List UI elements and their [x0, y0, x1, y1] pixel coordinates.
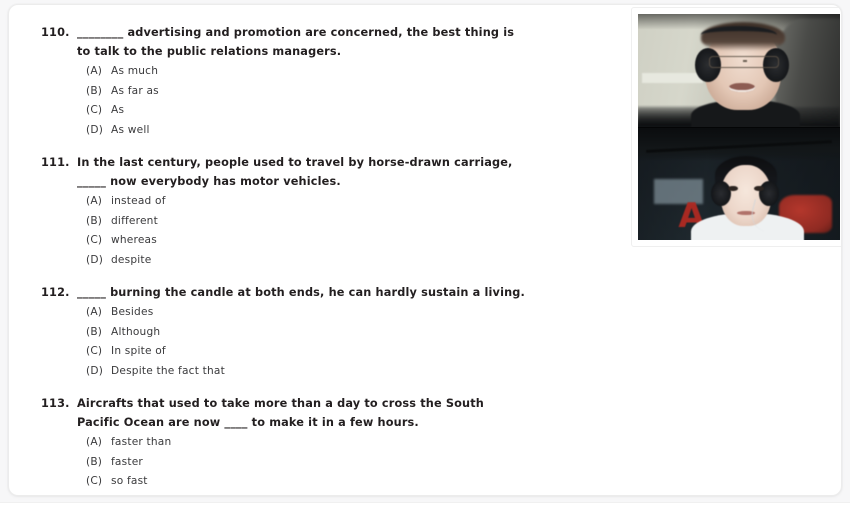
headphone-band-icon: [701, 26, 778, 44]
question-stem: _____ burning the candle at both ends, h…: [77, 283, 601, 302]
option-key: (A): [86, 433, 111, 453]
webcam-panel[interactable]: A: [631, 7, 842, 247]
eyes-shape: [727, 186, 765, 192]
option-key: (B): [86, 453, 111, 473]
question-block: 112. _____ burning the candle at both en…: [41, 283, 601, 381]
question-stem-line: to talk to the public relations managers…: [77, 42, 601, 61]
option-text: Besides: [111, 303, 601, 323]
option-key: (C): [86, 472, 111, 492]
option-text: fast enough: [111, 492, 601, 497]
option-text: despite: [111, 251, 601, 271]
option-text: so fast: [111, 472, 601, 492]
question-stem: Aircrafts that used to take more than a …: [77, 394, 601, 432]
question-number: 112.: [41, 283, 77, 302]
student-webcam-feed[interactable]: A: [638, 127, 840, 240]
option-row[interactable]: (D) Despite the fact that: [86, 362, 601, 382]
option-text: As much: [111, 62, 601, 82]
option-key: (C): [86, 231, 111, 251]
question-stem-line: Aircrafts that used to take more than a …: [77, 394, 601, 413]
option-text: In spite of: [111, 342, 601, 362]
option-text: As well: [111, 121, 601, 141]
option-row[interactable]: (C) so fast: [86, 472, 601, 492]
question-stem-line: _____ now everybody has motor vehicles.: [77, 172, 601, 191]
option-text: As far as: [111, 82, 601, 102]
question-stem: ________ advertising and promotion are c…: [77, 23, 601, 61]
option-row[interactable]: (B) different: [86, 212, 601, 232]
question-list: 110. ________ advertising and promotion …: [41, 23, 601, 496]
question-heading: 110. ________ advertising and promotion …: [41, 23, 601, 61]
option-key: (D): [86, 492, 111, 497]
option-text: Although: [111, 323, 601, 343]
eyeglasses-icon: [709, 56, 780, 68]
option-text: Despite the fact that: [111, 362, 601, 382]
option-key: (B): [86, 212, 111, 232]
option-row[interactable]: (A) As much: [86, 62, 601, 82]
question-heading: 111. In the last century, people used to…: [41, 153, 601, 191]
option-key: (A): [86, 303, 111, 323]
option-list: (A) faster than (B) faster (C) so fast (…: [86, 433, 601, 496]
question-stem-line: In the last century, people used to trav…: [77, 153, 601, 172]
option-key: (C): [86, 101, 111, 121]
option-text: instead of: [111, 192, 601, 212]
option-text: whereas: [111, 231, 601, 251]
option-row[interactable]: (B) Although: [86, 323, 601, 343]
mouth-shape: [729, 83, 755, 92]
question-block: 113. Aircrafts that used to take more th…: [41, 394, 601, 496]
shelf-shape: [642, 73, 703, 83]
question-number: 110.: [41, 23, 77, 42]
question-stem: In the last century, people used to trav…: [77, 153, 601, 191]
question-number: 111.: [41, 153, 77, 172]
question-block: 111. In the last century, people used to…: [41, 153, 601, 270]
option-row[interactable]: (D) despite: [86, 251, 601, 271]
option-key: (D): [86, 362, 111, 382]
option-row[interactable]: (A) instead of: [86, 192, 601, 212]
question-number: 113.: [41, 394, 77, 413]
question-heading: 113. Aircrafts that used to take more th…: [41, 394, 601, 432]
option-list: (A) instead of (B) different (C) whereas…: [86, 192, 601, 270]
quiz-slide-card: 110. ________ advertising and promotion …: [8, 4, 842, 496]
option-list: (A) As much (B) As far as (C) As (D) As …: [86, 62, 601, 140]
option-row[interactable]: (D) As well: [86, 121, 601, 141]
option-row[interactable]: (C) whereas: [86, 231, 601, 251]
feed-divider: [638, 127, 840, 128]
option-row[interactable]: (C) As: [86, 101, 601, 121]
option-key: (B): [86, 323, 111, 343]
option-row[interactable]: (A) faster than: [86, 433, 601, 453]
option-text: faster than: [111, 433, 601, 453]
option-text: faster: [111, 453, 601, 473]
bottom-strip: [0, 502, 850, 508]
screenshot-stage: 110. ________ advertising and promotion …: [0, 0, 850, 508]
option-row[interactable]: (B) As far as: [86, 82, 601, 102]
option-list: (A) Besides (B) Although (C) In spite of…: [86, 303, 601, 381]
option-row[interactable]: (A) Besides: [86, 303, 601, 323]
question-stem-line: _____ burning the candle at both ends, h…: [77, 283, 601, 302]
webcam-stack[interactable]: A: [638, 14, 840, 240]
option-text: different: [111, 212, 601, 232]
question-stem-line: Pacific Ocean are now ____ to make it in…: [77, 413, 601, 432]
option-row[interactable]: (D) fast enough: [86, 492, 601, 497]
option-key: (C): [86, 342, 111, 362]
option-key: (B): [86, 82, 111, 102]
question-stem-line: ________ advertising and promotion are c…: [77, 23, 601, 42]
option-row[interactable]: (B) faster: [86, 453, 601, 473]
option-text: As: [111, 101, 601, 121]
instructor-webcam-feed[interactable]: [638, 14, 840, 127]
option-key: (A): [86, 192, 111, 212]
option-key: (D): [86, 121, 111, 141]
option-row[interactable]: (C) In spite of: [86, 342, 601, 362]
option-key: (D): [86, 251, 111, 271]
option-key: (A): [86, 62, 111, 82]
question-block: 110. ________ advertising and promotion …: [41, 23, 601, 140]
question-heading: 112. _____ burning the candle at both en…: [41, 283, 601, 302]
